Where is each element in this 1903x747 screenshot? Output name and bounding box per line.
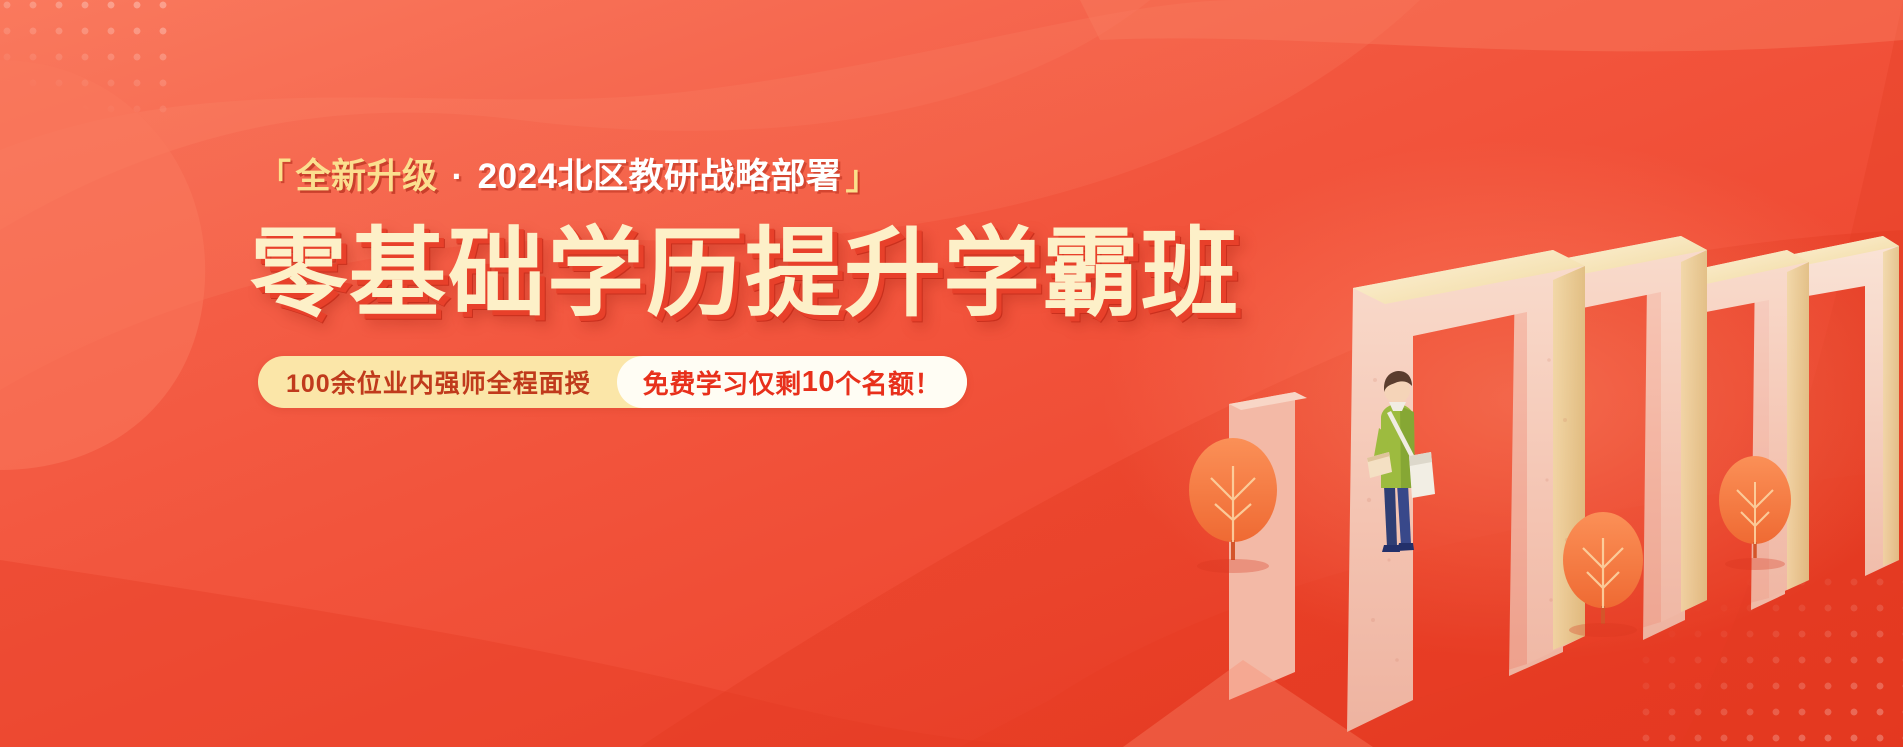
badge-seats-count: 10 (802, 366, 835, 399)
banner-subtitle: 「 全新升级 · 2024北区教研战略部署 」 (258, 159, 879, 194)
banner-copy: 「 全新升级 · 2024北区教研战略部署 」 零基础学历提升学霸班 100余位… (0, 0, 1060, 747)
badge-seats-prefix: 免费学习仅剩 (643, 364, 802, 401)
promo-banner: 「 全新升级 · 2024北区教研战略部署 」 零基础学历提升学霸班 100余位… (0, 0, 1903, 747)
banner-badge: 100余位业内强师全程面授 免费学习仅剩10个名额！ (258, 356, 967, 408)
badge-seats-suffix: 个名额！ (835, 364, 941, 401)
bracket-close-icon: 」 (846, 161, 880, 194)
badge-seats-remaining: 免费学习仅剩10个名额！ (617, 356, 967, 408)
bracket-open-icon: 「 (258, 159, 292, 192)
subtitle-highlight: 全新升级 (296, 159, 438, 194)
subtitle-separator-dot: · (452, 159, 464, 194)
dot-grid-bottom-right (1633, 569, 1903, 747)
subtitle-rest: 2024北区教研战略部署 (478, 159, 842, 194)
banner-headline: 零基础学历提升学霸班 (250, 225, 1240, 324)
badge-teachers-label: 100余位业内强师全程面授 (258, 356, 617, 408)
